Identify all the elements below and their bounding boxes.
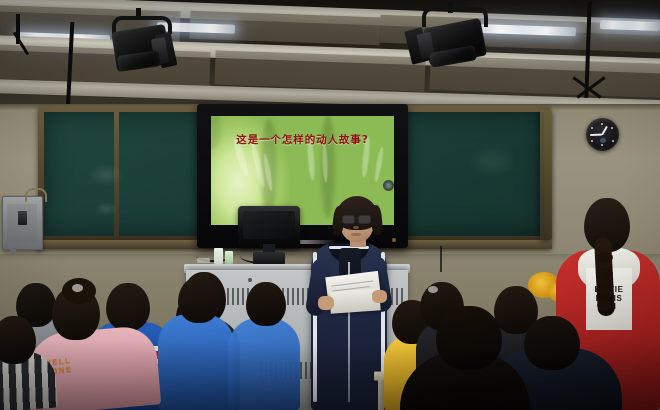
classroom-photo: 这是一个怎样的动人故事? xyxy=(0,0,660,410)
clock-minute-hand xyxy=(590,134,602,136)
student-garment xyxy=(158,314,234,410)
chalkboard-edge xyxy=(540,110,552,240)
student-head xyxy=(524,316,580,370)
podium-monitor[interactable] xyxy=(238,206,300,248)
student-head xyxy=(246,282,286,326)
monitor-screen xyxy=(243,211,295,239)
ceiling-panel xyxy=(214,50,425,91)
slide-title: 这是一个怎样的动人故事? xyxy=(211,132,394,147)
clock-face xyxy=(589,121,616,148)
podium-lock-icon[interactable] xyxy=(248,278,252,282)
teacher-left-hand xyxy=(318,296,334,310)
student-head xyxy=(436,306,502,370)
hair-tie-icon xyxy=(428,286,438,293)
wall-clock xyxy=(586,118,619,151)
box-device-icon xyxy=(18,211,27,225)
bottle-item[interactable] xyxy=(225,251,233,264)
clock-hour-hand xyxy=(601,126,608,136)
student-head xyxy=(106,283,150,331)
hair-tie-icon xyxy=(72,284,83,292)
eyeglasses-icon xyxy=(342,215,355,224)
teacher-nose xyxy=(353,226,359,229)
wall-equipment-box[interactable] xyxy=(2,196,43,250)
ceiling xyxy=(0,0,660,112)
cup-item[interactable] xyxy=(214,248,223,264)
desk-item[interactable] xyxy=(197,258,210,263)
gooseneck-arm-icon xyxy=(25,188,47,202)
teacher-right-hand xyxy=(372,290,387,303)
student-garment xyxy=(228,318,300,410)
power-led-icon xyxy=(392,238,396,242)
display-logo-icon xyxy=(383,180,394,191)
student-head xyxy=(178,277,220,323)
teacher-mouth xyxy=(351,233,361,236)
box-mount xyxy=(10,248,16,254)
eyeglasses-icon xyxy=(358,215,371,224)
cable-drop xyxy=(440,246,442,272)
